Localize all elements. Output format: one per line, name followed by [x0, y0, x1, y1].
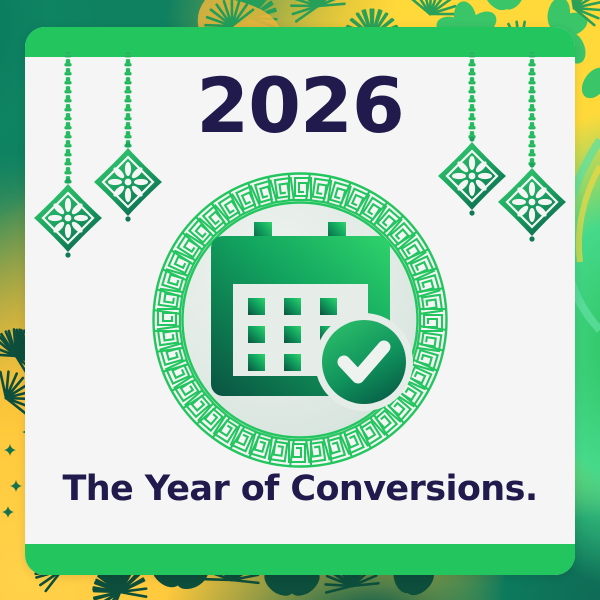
- year-headline: 2026: [0, 68, 600, 144]
- tagline-text: The Year of Conversions.: [0, 470, 600, 509]
- calendar-check-emblem: [150, 170, 450, 470]
- card-top-band: [25, 27, 575, 57]
- card-bottom-band: [25, 544, 575, 575]
- poster-canvas: 2026: [0, 0, 600, 600]
- check-circle-badge: [315, 313, 413, 411]
- calendar-check-icon: [211, 222, 413, 411]
